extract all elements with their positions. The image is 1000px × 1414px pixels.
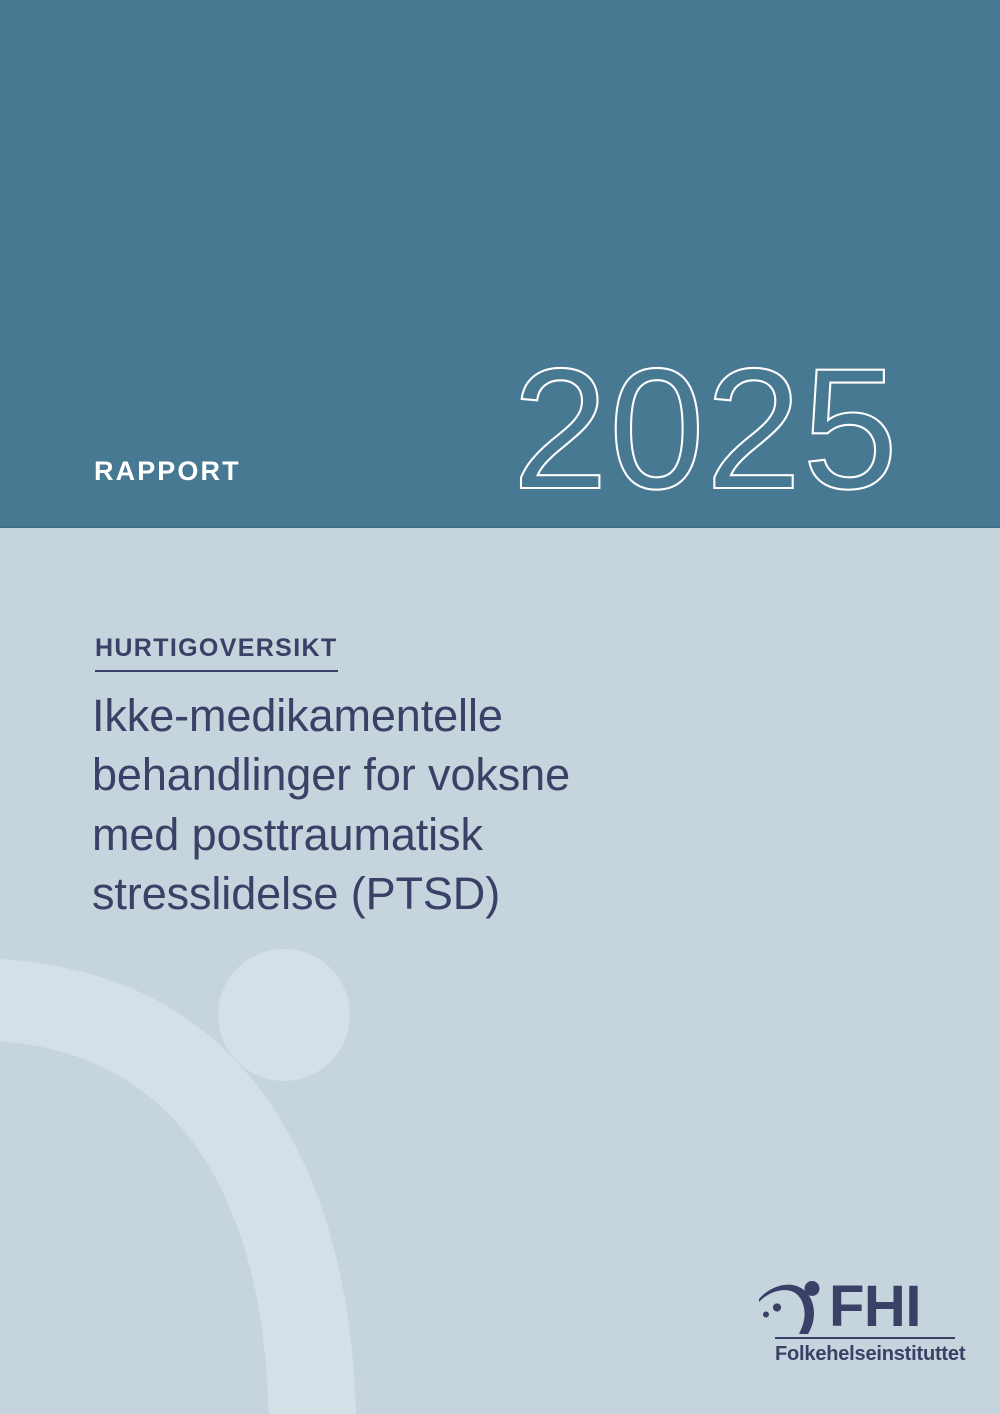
fhi-swoosh-figure-icon <box>757 1280 829 1334</box>
report-title-line: med posttraumatisk <box>92 805 732 864</box>
publication-year: 2025 <box>512 343 899 515</box>
fhi-swoosh-watermark-icon <box>0 905 548 1414</box>
fhi-wordmark: Folkehelseinstituttet <box>775 1342 965 1366</box>
fhi-acronym: FHI <box>829 1278 921 1336</box>
fhi-logo-divider <box>775 1337 955 1339</box>
header-divider <box>0 526 1000 528</box>
report-cover-page: RAPPORT 2025 HURTIGOVERSIKT Ikke-medikam… <box>0 0 1000 1414</box>
document-type-label: RAPPORT <box>94 458 241 485</box>
report-title-line: behandlinger for voksne <box>92 745 732 804</box>
report-category-kicker: HURTIGOVERSIKT <box>95 636 338 672</box>
report-title-line: Ikke-medikamentelle <box>92 686 732 745</box>
fhi-logo: FHI Folkehelseinstituttet <box>757 1280 957 1368</box>
report-title: Ikke-medikamentelle behandlinger for vok… <box>92 686 732 924</box>
report-title-line: stresslidelse (PTSD) <box>92 864 732 923</box>
